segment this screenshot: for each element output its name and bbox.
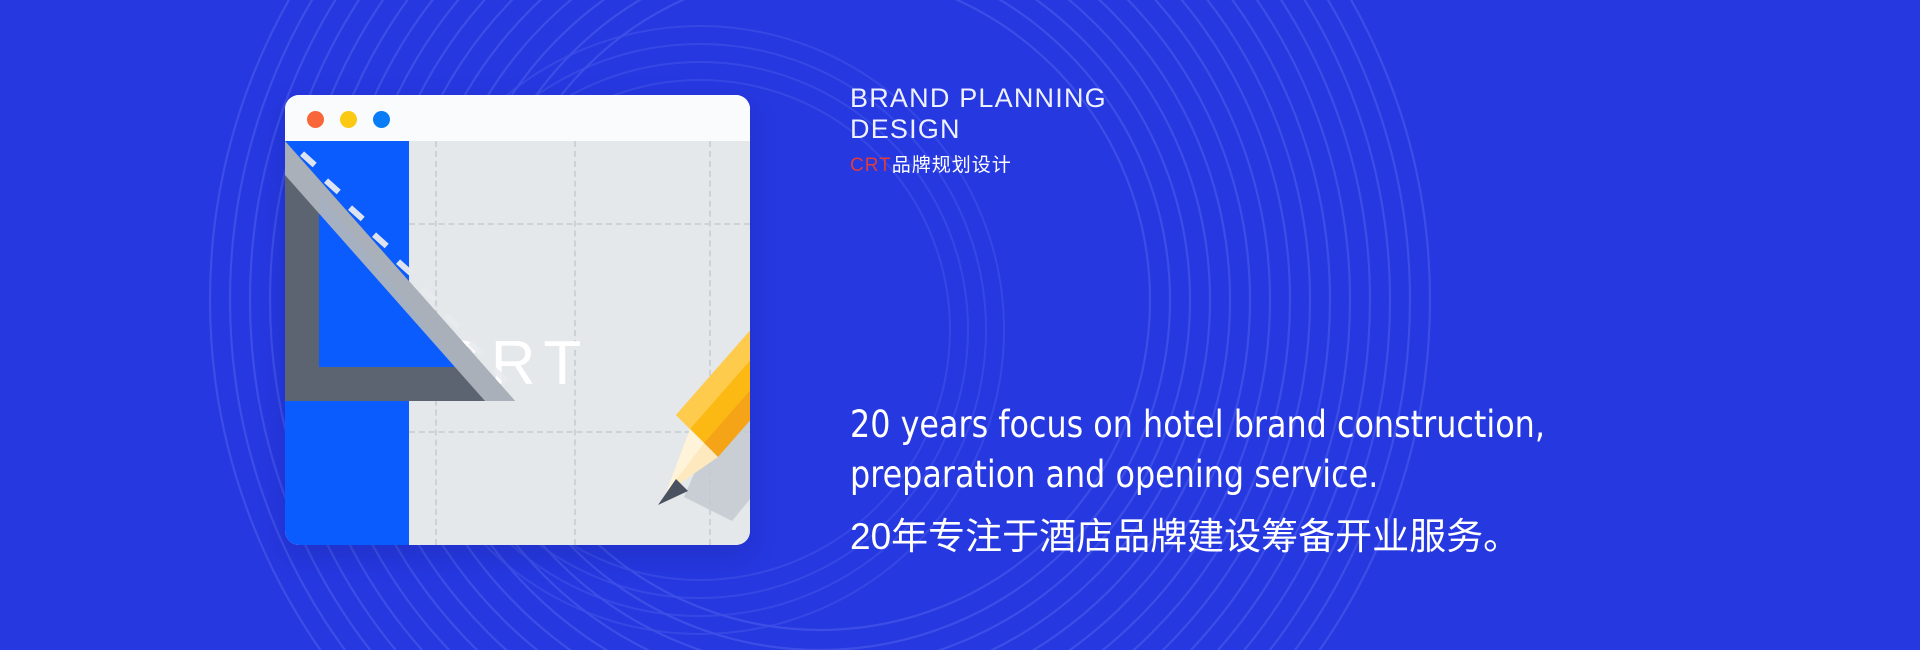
eyebrow-text-block: BRAND PLANNING DESIGN CRT品牌规划设计: [850, 83, 1410, 178]
maximize-dot-icon: [373, 111, 390, 128]
eyebrow-subtitle-cn: 品牌规划设计: [892, 155, 1012, 176]
close-dot-icon: [307, 111, 324, 128]
eyebrow-line-1: BRAND PLANNING: [850, 83, 1410, 114]
pencil-icon: [640, 225, 750, 545]
eyebrow-subtitle: CRT品牌规划设计: [850, 154, 1410, 178]
tagline-block: 20 years focus on hotel brand constructi…: [850, 400, 1710, 562]
hero-illustration: CRT: [220, 95, 780, 565]
minimize-dot-icon: [340, 111, 357, 128]
eyebrow-line-2: DESIGN: [850, 114, 1410, 145]
tagline-en-line-1: 20 years focus on hotel brand constructi…: [850, 400, 1590, 450]
tagline-cn: 20年专注于酒店品牌建设筹备开业服务。: [850, 512, 1710, 562]
window-titlebar: [285, 95, 750, 141]
brand-name: CRT: [850, 155, 892, 176]
triangle-ruler-icon: [285, 141, 545, 401]
tagline-en-line-2: preparation and opening service.: [850, 450, 1590, 500]
browser-window-card: CRT: [285, 95, 750, 545]
promo-banner: CRT: [0, 0, 1920, 650]
